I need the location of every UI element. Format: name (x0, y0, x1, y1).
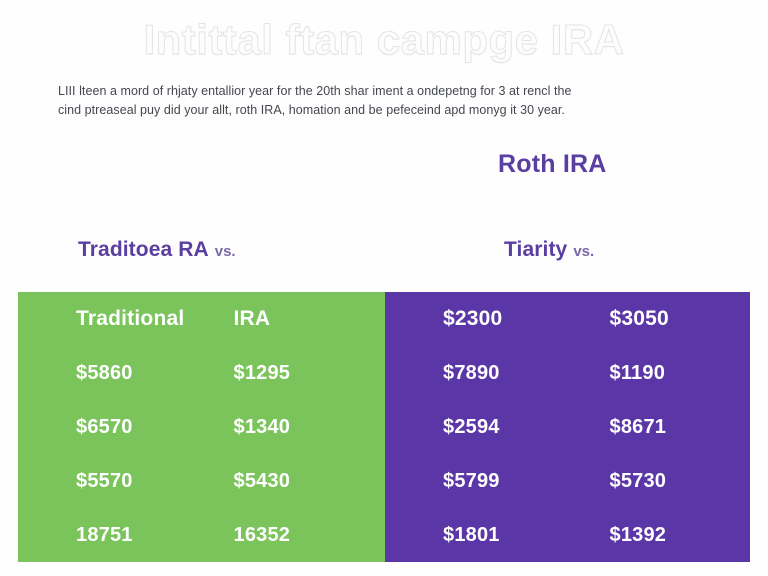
table-cell: $1392 (584, 524, 751, 547)
table-cell: $2300 (385, 307, 584, 331)
table-header-cell: IRA (228, 307, 386, 331)
subheading-traditional-vs: vs. (215, 243, 236, 260)
table-row: $2300 $3050 (385, 292, 750, 346)
table-cell: $2594 (385, 416, 584, 439)
comparison-table: Traditional IRA $5860 $1295 $6570 $1340 … (18, 292, 750, 562)
table-cell: $1801 (385, 524, 584, 547)
intro-line-2: cind ptreaseal puy did your allt, roth I… (58, 101, 710, 120)
subheading-tiarity: Tiarityvs. (504, 238, 594, 262)
table-cell: 16352 (228, 524, 386, 547)
table-row: $2594 $8671 (385, 400, 750, 454)
table-cell: $5570 (18, 470, 228, 493)
table-row: $6570 $1340 (18, 400, 385, 454)
table-row: 18751 16352 (18, 508, 385, 562)
subheading-traditional-name: Traditoea RA (78, 238, 209, 261)
table-cell: $1295 (228, 362, 386, 385)
table-row: $5570 $5430 (18, 454, 385, 508)
table-header-cell: Traditional (18, 307, 228, 331)
table-cell: $7890 (385, 362, 584, 385)
intro-paragraph: LIII lteen a mord of rhjaty entallior ye… (58, 82, 710, 121)
table-cell: 18751 (18, 524, 228, 547)
table-cell: $8671 (584, 416, 751, 439)
subheading-traditional: Traditoea RAvs. (78, 238, 236, 262)
table-cell: $6570 (18, 416, 228, 439)
title-band: Intittal ftan campge IRA (0, 12, 768, 68)
table-row: $1801 $1392 (385, 508, 750, 562)
table-row: $5799 $5730 (385, 454, 750, 508)
table-row: $7890 $1190 (385, 346, 750, 400)
roth-ira-panel: $2300 $3050 $7890 $1190 $2594 $8671 $579… (385, 292, 750, 562)
table-cell: $5860 (18, 362, 228, 385)
intro-line-1: LIII lteen a mord of rhjaty entallior ye… (58, 82, 710, 101)
table-cell: $5730 (584, 470, 751, 493)
section-heading-roth-ira: Roth IRA (498, 150, 607, 179)
table-cell: $1340 (228, 416, 386, 439)
subheading-row: Traditoea RAvs. Tiarityvs. (0, 238, 768, 274)
table-row: Traditional IRA (18, 292, 385, 346)
table-cell: $5799 (385, 470, 584, 493)
document-page: Intittal ftan campge IRA LIII lteen a mo… (0, 0, 768, 576)
traditional-ira-panel: Traditional IRA $5860 $1295 $6570 $1340 … (18, 292, 385, 562)
subheading-tiarity-name: Tiarity (504, 238, 567, 261)
subheading-tiarity-vs: vs. (573, 243, 594, 260)
table-cell: $5430 (228, 470, 386, 493)
page-title: Intittal ftan campge IRA (143, 16, 624, 64)
table-row: $5860 $1295 (18, 346, 385, 400)
table-cell: $3050 (584, 307, 751, 331)
table-cell: $1190 (584, 362, 751, 385)
